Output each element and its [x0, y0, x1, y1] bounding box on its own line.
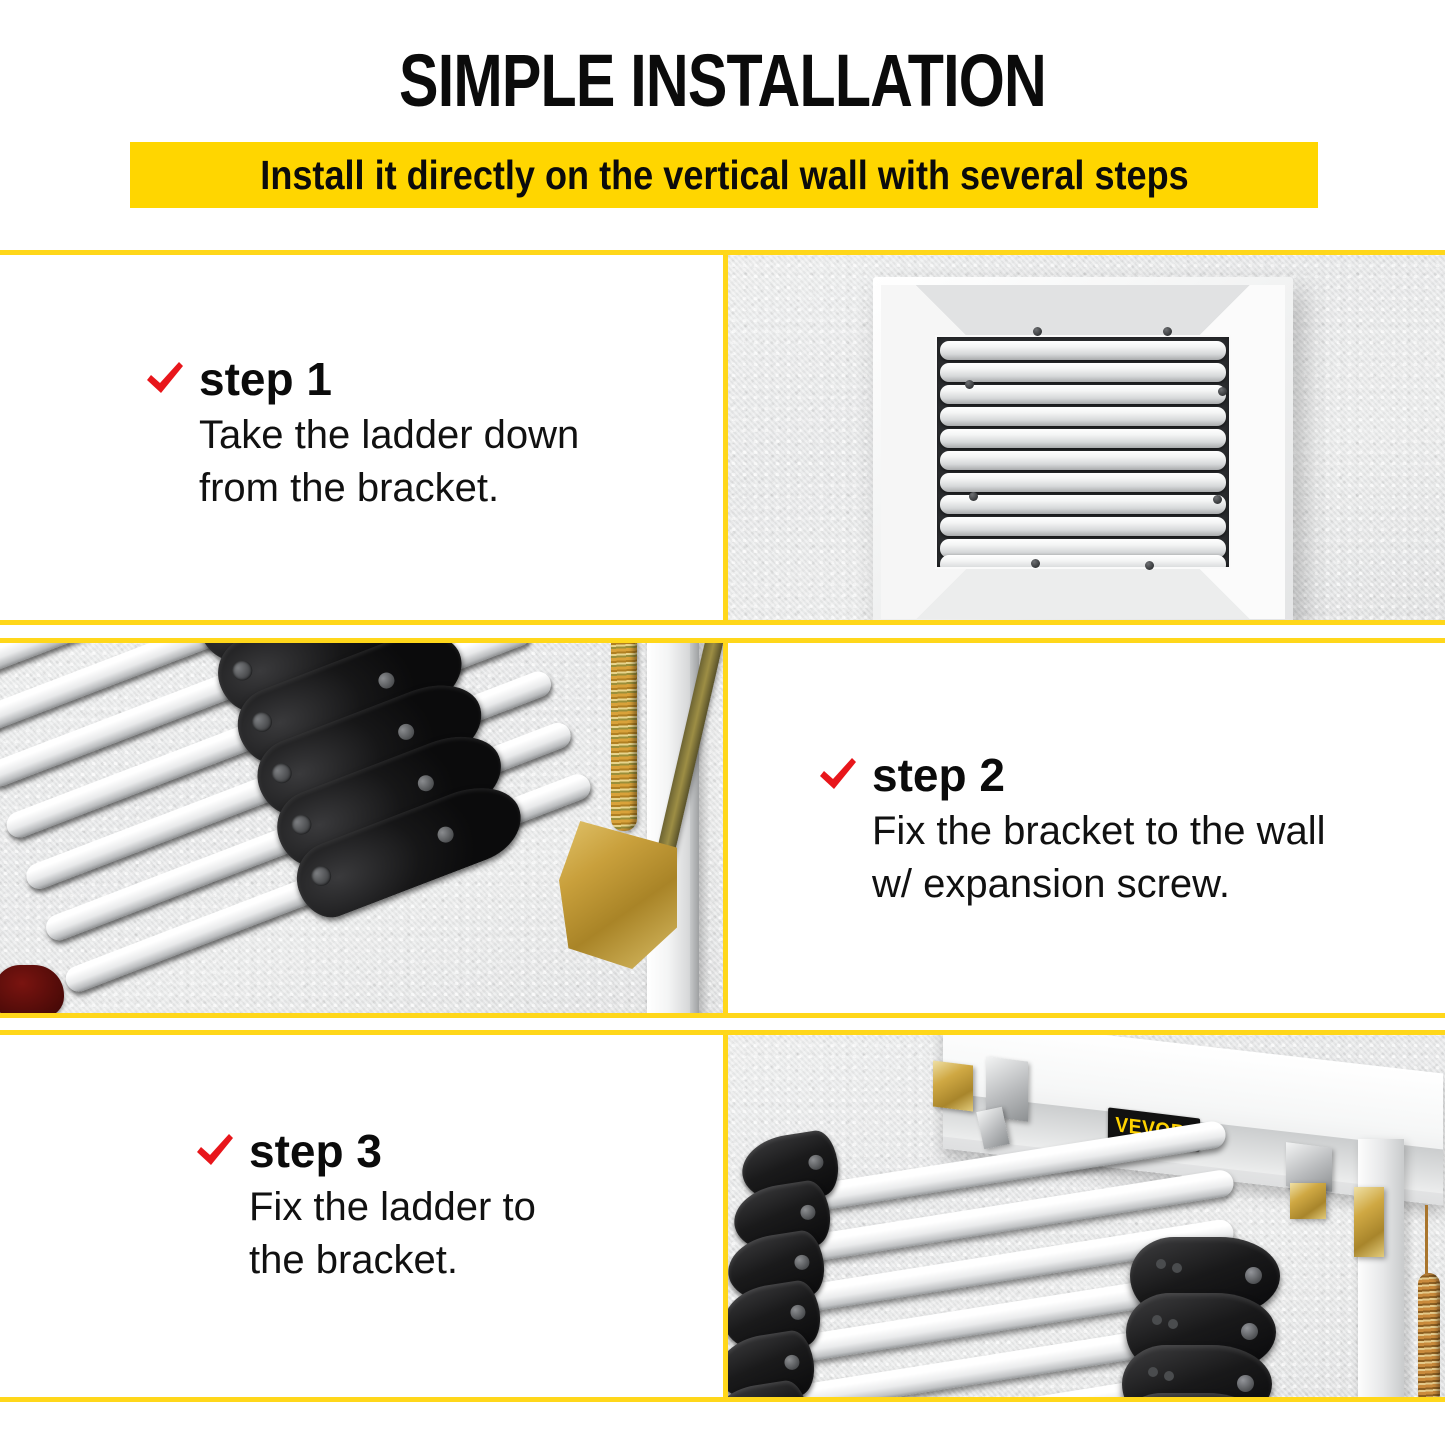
grid-rule-v-row3 — [723, 1030, 728, 1402]
step-2-desc-line-2: w/ expansion screw. — [872, 858, 1326, 911]
step-2-block: step 2 Fix the bracket to the wall w/ ex… — [818, 751, 1326, 911]
ladder-top-rails — [833, 255, 1068, 257]
step-3-photo-cell: VEVOR® — [728, 1035, 1445, 1397]
step-2-label: step 2 — [872, 751, 1005, 799]
step-2-text-cell: step 2 Fix the bracket to the wall w/ ex… — [728, 643, 1445, 1013]
grid-rule-v-row2 — [723, 638, 728, 1018]
grid-rule-v-row1 — [723, 250, 728, 625]
photo-ladder-on-bracket: VEVOR® — [728, 1035, 1445, 1397]
wall-mounted-ladder-unit — [873, 277, 1293, 620]
rung-stack-scene — [0, 643, 723, 1013]
step-3-heading: step 3 — [195, 1127, 536, 1175]
step-3-text-cell: step 3 Fix the ladder to the bracket. — [5, 1035, 723, 1397]
step-2-description: Fix the bracket to the wall w/ expansion… — [872, 805, 1326, 911]
step-3-desc-line-2: the bracket. — [249, 1234, 536, 1287]
subtitle-text: Install it directly on the vertical wall… — [260, 155, 1188, 196]
ladder-bracket-scene: VEVOR® — [728, 1035, 1445, 1397]
steps-grid: step 1 Take the ladder down from the bra… — [0, 250, 1445, 1402]
photo-bracket-closeup — [0, 643, 723, 1013]
step-3-desc-line-1: Fix the ladder to — [249, 1181, 536, 1234]
step-2-desc-line-1: Fix the bracket to the wall — [872, 805, 1326, 858]
step-2-photo-cell — [0, 643, 723, 1013]
photo-wall-mounted-ladder — [728, 255, 1445, 620]
expansion-spring — [611, 643, 637, 831]
step-3-description: Fix the ladder to the bracket. — [249, 1181, 536, 1287]
step-1-label: step 1 — [199, 355, 332, 403]
spring-wire — [1425, 1205, 1428, 1277]
bracket-hook-zinc — [1354, 1187, 1384, 1257]
check-icon — [195, 1132, 235, 1170]
step-3-block: step 3 Fix the ladder to the bracket. — [195, 1127, 536, 1287]
bracket-right-rail — [1358, 1139, 1404, 1397]
step-1-photo-cell — [728, 255, 1445, 620]
step-1-block: step 1 Take the ladder down from the bra… — [145, 355, 579, 515]
step-2-heading: step 2 — [818, 751, 1326, 799]
tension-spring — [1418, 1273, 1440, 1397]
ladder-rung-stack — [935, 335, 1231, 569]
step-1-desc-line-2: from the bracket. — [199, 462, 579, 515]
page-title: SIMPLE INSTALLATION — [145, 44, 1301, 118]
step-1-text-cell: step 1 Take the ladder down from the bra… — [5, 255, 723, 620]
hinge-plate-zinc-right — [1290, 1183, 1326, 1219]
check-icon — [145, 360, 185, 398]
hinge-plate-zinc — [933, 1061, 973, 1112]
step-1-heading: step 1 — [145, 355, 579, 403]
subtitle-banner: Install it directly on the vertical wall… — [130, 142, 1318, 208]
step-1-desc-line-1: Take the ladder down — [199, 409, 579, 462]
step-1-description: Take the ladder down from the bracket. — [199, 409, 579, 515]
red-object — [0, 965, 64, 1013]
step-3-label: step 3 — [249, 1127, 382, 1175]
header: SIMPLE INSTALLATION Install it directly … — [0, 0, 1445, 250]
check-icon — [818, 756, 858, 794]
